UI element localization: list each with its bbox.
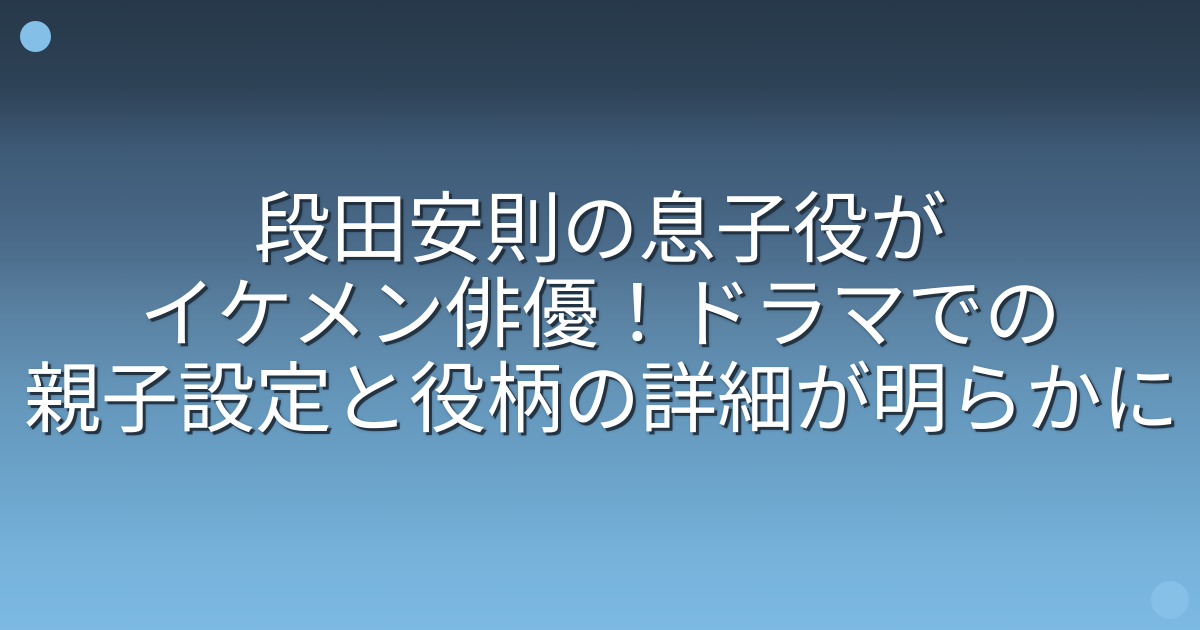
title-line-2: イケメン俳優！ドラマでの [24,273,1176,358]
ogp-card: 段田安則の息子役が イケメン俳優！ドラマでの 親子設定と役柄の詳細が明らかに [0,0,1200,630]
title-line-1: 段田安則の息子役が [24,188,1176,273]
page-title: 段田安則の息子役が イケメン俳優！ドラマでの 親子設定と役柄の詳細が明らかに [0,0,1200,630]
title-line-3: 親子設定と役柄の詳細が明らかに [24,358,1176,443]
